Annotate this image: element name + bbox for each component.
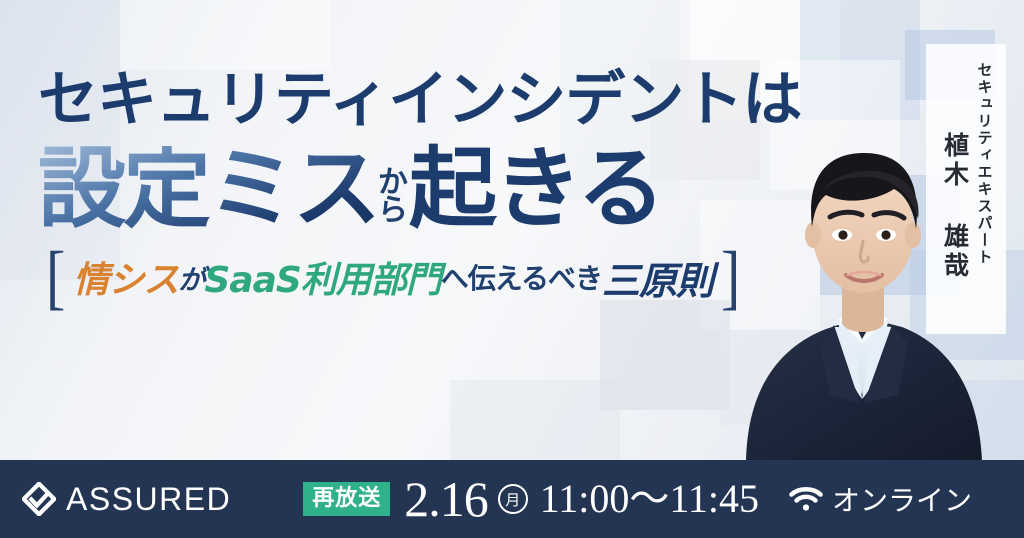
- subtitle-particle-ga: が: [178, 258, 204, 297]
- bg-square: [120, 0, 330, 70]
- headline-line-3: [ 情シス が SaaS利用部門 へ伝えるべき 三原則 ]: [38, 248, 818, 306]
- event-date: 2.16: [404, 474, 488, 524]
- speaker-role: セキュリティエキスパート: [975, 62, 996, 266]
- bracket-close: ]: [713, 241, 748, 314]
- headline-dark-text: 起きる: [409, 146, 662, 232]
- diamond-check-icon: [22, 482, 56, 516]
- headline-block: セキュリティインシデントは 設定ミス か ら 起きる [ 情シス が SaaS利…: [38, 70, 818, 306]
- rebroadcast-badge: 再放送: [303, 482, 390, 515]
- headline-line-1: セキュリティインシデントは: [38, 70, 818, 130]
- ruby-char-2: ら: [378, 197, 407, 225]
- wifi-icon: [789, 486, 823, 512]
- day-of-week-badge: 月: [498, 484, 528, 514]
- speaker-name: 植木 雄哉: [937, 132, 973, 281]
- headline-ruby-kara: か ら: [378, 169, 407, 224]
- subtitle-navy-bold-text: 三原則: [602, 250, 713, 305]
- footer-bar: ASSURED 再放送 2.16 月 11:00〜11:45 オンライン: [0, 460, 1024, 538]
- speaker-nameplate: セキュリティエキスパート 植木 雄哉: [926, 44, 1006, 334]
- headline-gradient-text: 設定ミス: [38, 146, 378, 232]
- subtitle-green-text: SaaS利用部門: [204, 251, 440, 303]
- event-time: 11:00〜11:45: [540, 479, 759, 519]
- logo-wordmark: ASSURED: [66, 481, 231, 518]
- bracket-open: [: [38, 241, 73, 314]
- webinar-banner: セキュリティエキスパート 植木 雄哉 セキュリティインシデントは 設定ミス か …: [0, 0, 1024, 538]
- bg-square: [600, 300, 730, 410]
- schedule-group: 再放送 2.16 月 11:00〜11:45 オンライン: [303, 474, 972, 524]
- venue-group: オンライン: [789, 479, 972, 519]
- headline-line-2: 設定ミス か ら 起きる: [38, 146, 818, 232]
- assured-logo[interactable]: ASSURED: [22, 481, 231, 518]
- subtitle-orange-text: 情シス: [73, 251, 178, 303]
- subtitle-navy-text: へ伝えるべき: [441, 257, 602, 297]
- bg-square: [450, 380, 620, 460]
- venue-label: オンライン: [832, 479, 972, 519]
